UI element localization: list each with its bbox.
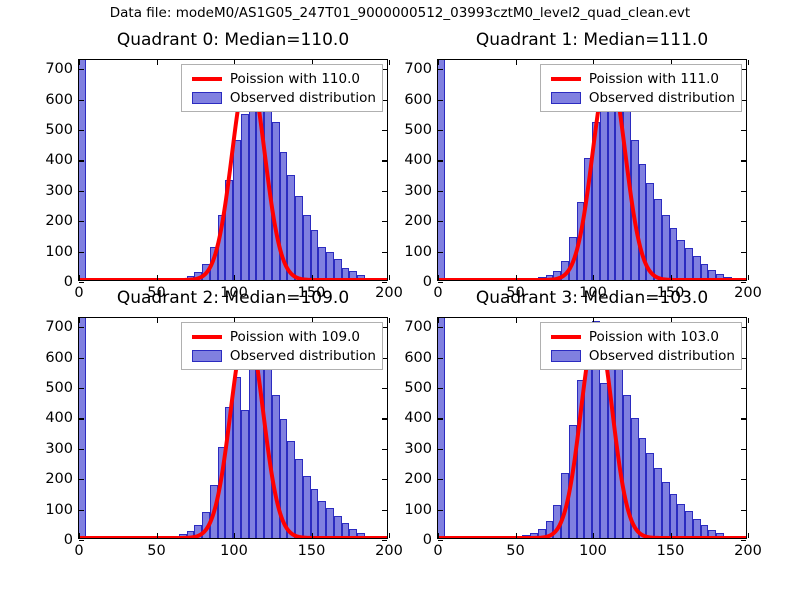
histogram-bar	[546, 521, 554, 538]
x-tick-mark	[516, 533, 517, 538]
y-tick-label: 100	[404, 502, 432, 518]
histogram-bar	[670, 494, 678, 538]
subplot-title-quadrant-3: Quadrant 3: Median=103.0	[437, 288, 747, 308]
legend-quadrant-2[interactable]: Poission with 109.0Observed distribution	[181, 322, 383, 370]
x-tick-label: 150	[657, 543, 685, 559]
y-tick-mark-right	[741, 388, 746, 389]
histogram-bar	[732, 537, 740, 538]
y-tick-mark	[438, 449, 443, 450]
y-tick-mark	[438, 510, 443, 511]
legend-label-observed: Observed distribution	[226, 90, 376, 106]
histogram-bar	[623, 395, 631, 538]
histogram-bar	[631, 418, 639, 538]
y-tick-mark-right	[741, 540, 746, 541]
histogram-bar	[569, 425, 577, 538]
histogram-bar	[677, 504, 685, 538]
x-tick-mark	[671, 533, 672, 538]
histogram-bar	[438, 318, 445, 538]
histogram-bar	[639, 438, 647, 538]
legend-swatch-wrap	[547, 350, 585, 362]
y-tick-label: 600	[404, 350, 432, 366]
legend-entry-observed: Observed distribution	[547, 346, 735, 365]
x-tick-mark	[438, 533, 439, 538]
patch-swatch-icon	[551, 92, 581, 104]
legend-label-observed: Observed distribution	[585, 348, 735, 364]
line-swatch-icon	[551, 335, 581, 339]
matplotlib-figure: Data file: modeM0/AS1G05_247T01_90000005…	[0, 0, 800, 600]
histogram-bar	[608, 343, 616, 538]
histogram-bar	[654, 468, 662, 538]
y-tick-mark-right	[741, 418, 746, 419]
histogram-bar	[693, 519, 701, 538]
legend-label-observed: Observed distribution	[585, 90, 735, 106]
y-tick-mark	[438, 479, 443, 480]
histogram-bar	[553, 505, 561, 538]
legend-swatch-wrap	[188, 350, 226, 362]
x-tick-label: 50	[506, 543, 524, 559]
y-tick-label: 0	[423, 532, 432, 548]
legend-entry-observed: Observed distribution	[547, 88, 735, 107]
y-tick-mark-right	[741, 449, 746, 450]
legend-entry-poisson: Poission with 109.0	[188, 327, 376, 346]
legend-label-poisson: Poission with 109.0	[226, 329, 360, 345]
legend-quadrant-1[interactable]: Poission with 111.0Observed distribution	[540, 64, 742, 112]
x-tick-mark-top	[516, 318, 517, 323]
line-swatch-icon	[192, 335, 222, 339]
legend-swatch-wrap	[188, 335, 226, 339]
histogram-bar	[499, 537, 507, 538]
histogram-bar	[615, 368, 623, 538]
legend-label-poisson: Poission with 110.0	[226, 71, 360, 87]
y-tick-mark	[438, 540, 443, 541]
legend-entry-observed: Observed distribution	[188, 88, 376, 107]
histogram-bar	[701, 525, 709, 538]
legend-label-poisson: Poission with 103.0	[585, 329, 719, 345]
y-tick-mark	[438, 388, 443, 389]
histogram-bar	[716, 533, 724, 538]
histogram-bar	[662, 482, 670, 538]
histogram-bar	[724, 536, 732, 538]
y-tick-mark-right	[741, 510, 746, 511]
x-tick-mark-top	[748, 318, 749, 323]
legend-swatch-wrap	[547, 77, 585, 81]
y-tick-mark	[438, 418, 443, 419]
patch-swatch-icon	[192, 350, 222, 362]
histogram-bar	[561, 473, 569, 538]
y-tick-mark	[438, 358, 443, 359]
line-swatch-icon	[192, 77, 222, 81]
y-tick-mark	[438, 327, 443, 328]
y-tick-label: 700	[404, 319, 432, 335]
legend-entry-poisson: Poission with 110.0	[188, 69, 376, 88]
line-swatch-icon	[551, 77, 581, 81]
legend-quadrant-0[interactable]: Poission with 110.0Observed distribution	[181, 64, 383, 112]
x-tick-mark-top	[438, 318, 439, 323]
x-tick-mark	[748, 533, 749, 538]
x-tick-mark	[593, 533, 594, 538]
histogram-bar	[646, 453, 654, 538]
histogram-bar	[600, 383, 608, 538]
y-tick-label: 400	[404, 410, 432, 426]
legend-entry-poisson: Poission with 103.0	[547, 327, 735, 346]
legend-label-poisson: Poission with 111.0	[585, 71, 719, 87]
histogram-bar	[577, 380, 585, 538]
x-tick-label: 0	[433, 543, 442, 559]
histogram-bar	[584, 343, 592, 538]
legend-swatch-wrap	[547, 335, 585, 339]
legend-label-observed: Observed distribution	[226, 348, 376, 364]
legend-swatch-wrap	[547, 92, 585, 104]
legend-entry-poisson: Poission with 111.0	[547, 69, 735, 88]
y-tick-label: 200	[404, 471, 432, 487]
y-tick-label: 300	[404, 441, 432, 457]
histogram-bar	[530, 533, 538, 538]
y-tick-label: 500	[404, 380, 432, 396]
histogram-bar	[538, 529, 546, 538]
histogram-bar	[507, 537, 515, 538]
x-tick-label: 100	[579, 543, 607, 559]
histogram-bar	[522, 535, 530, 538]
legend-swatch-wrap	[188, 77, 226, 81]
legend-entry-observed: Observed distribution	[188, 346, 376, 365]
patch-swatch-icon	[192, 92, 222, 104]
legend-swatch-wrap	[188, 92, 226, 104]
histogram-bar	[708, 530, 716, 538]
histogram-bar	[685, 511, 693, 538]
legend-quadrant-3[interactable]: Poission with 103.0Observed distribution	[540, 322, 742, 370]
y-tick-mark-right	[741, 479, 746, 480]
axes-quadrant-3: 0100200300400500600700050100150200Poissi…	[437, 317, 747, 539]
patch-swatch-icon	[551, 350, 581, 362]
x-tick-label: 200	[734, 543, 762, 559]
